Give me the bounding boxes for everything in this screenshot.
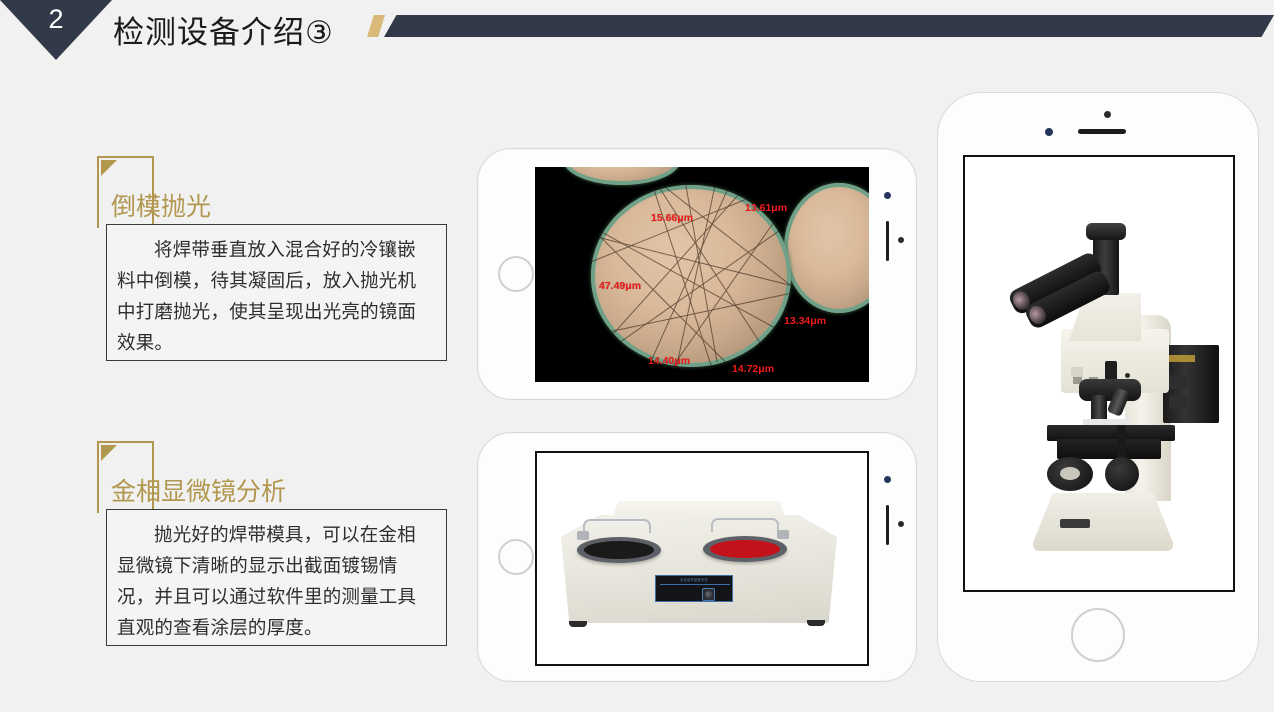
- polisher-tap-right: [777, 530, 789, 539]
- measure-label: 13.61μm: [745, 202, 787, 214]
- front-camera-icon: [884, 192, 891, 199]
- measure-label: 13.34μm: [784, 315, 826, 327]
- block-body-text: 将焊带垂直放入混合好的冷镶嵌料中倒模，待其凝固后，放入抛光机中打磨抛光，使其呈现…: [117, 235, 434, 359]
- block-text-box: 将焊带垂直放入混合好的冷镶嵌料中倒模，待其凝固后，放入抛光机中打磨抛光，使其呈现…: [106, 224, 447, 361]
- head-control-plate: [1071, 367, 1083, 377]
- microscope-illuminator: [1163, 345, 1219, 423]
- phone-mockup-microscope: [937, 92, 1259, 682]
- measure-label: 14.72μm: [732, 363, 774, 375]
- polisher-foot-right: [807, 620, 825, 626]
- measure-label: 14.40μm: [648, 355, 690, 367]
- stage-lower-block: [1057, 439, 1161, 459]
- polisher-foot-left: [569, 621, 587, 627]
- polisher-panel-text: 全自动环型抛光机: [656, 577, 732, 582]
- block-text-box: 抛光好的焊带模具，可以在金相显微镜下清晰的显示出截面镀锡情况，并且可以通过软件里…: [106, 509, 447, 646]
- proximity-sensor-icon: [898, 237, 904, 243]
- earpiece-speaker-icon: [886, 221, 889, 261]
- slide-header: 2 检测设备介绍③: [0, 0, 1274, 62]
- objective-turret: [1079, 379, 1141, 401]
- illuminator-knob-lower[interactable]: [1169, 395, 1187, 409]
- microscope-base-label: [1060, 519, 1090, 528]
- phone-screen-microscope: [963, 155, 1235, 592]
- section-number: 2: [48, 0, 63, 60]
- earpiece-speaker-icon: [1078, 129, 1126, 134]
- polishing-machine-image: 全自动环型抛光机: [555, 479, 845, 639]
- proximity-sensor-icon: [898, 521, 904, 527]
- microscope-image: [965, 157, 1235, 592]
- polisher-control-panel: 全自动环型抛光机: [655, 575, 733, 602]
- polishing-disc-black: [577, 537, 661, 563]
- page-title: 检测设备介绍③: [113, 7, 334, 52]
- phone-mockup-micrograph: 15.66μm 13.61μm 47.49μm 13.34μm 14.40μm …: [477, 148, 917, 400]
- header-bar-gold-tip: [367, 15, 385, 37]
- polishing-disc-red: [703, 536, 787, 562]
- block-heading: 金相显微镜分析: [111, 472, 286, 508]
- home-button-icon[interactable]: [1071, 608, 1125, 662]
- trinocular-cap: [1086, 223, 1126, 240]
- grain-partial-top: [563, 167, 681, 185]
- earpiece-speaker-icon: [886, 505, 889, 545]
- panel-divider: [660, 584, 730, 585]
- front-camera-icon: [1045, 128, 1053, 136]
- phone-mockup-polisher: 全自动环型抛光机: [477, 432, 917, 682]
- proximity-sensor-icon: [1104, 111, 1111, 118]
- front-camera-icon: [884, 476, 891, 483]
- home-button-icon[interactable]: [498, 256, 534, 292]
- phone-screen-polisher: 全自动环型抛光机: [535, 451, 869, 666]
- measure-label: 15.66μm: [651, 212, 693, 224]
- illuminator-knob-upper[interactable]: [1169, 375, 1187, 389]
- block-heading: 倒模抛光: [111, 187, 211, 223]
- coarse-focus-knob[interactable]: [1105, 457, 1139, 491]
- head-indicator-dot: [1125, 373, 1130, 378]
- header-accent-bar: [367, 15, 1274, 37]
- fine-focus-knob[interactable]: [1047, 457, 1093, 491]
- polisher-tap-left: [577, 531, 589, 540]
- micrograph-image: 15.66μm 13.61μm 47.49μm 13.34μm 14.40μm …: [535, 167, 869, 382]
- block-body-text: 抛光好的焊带模具，可以在金相显微镜下清晰的显示出截面镀锡情况，并且可以通过软件里…: [117, 520, 434, 644]
- polisher-handle-left: [583, 519, 651, 533]
- polisher-handle-right: [711, 518, 779, 532]
- eyepiece-lens-icon: [1026, 303, 1049, 327]
- microscope-base: [1033, 493, 1173, 551]
- home-button-icon[interactable]: [498, 539, 534, 575]
- grain-partial-right: [784, 183, 869, 313]
- illuminator-label-icon: [1169, 355, 1195, 362]
- header-bar-dark: [384, 15, 1274, 37]
- polisher-speed-knob[interactable]: [702, 588, 715, 601]
- section-number-badge: 2: [0, 0, 112, 60]
- slide-root: 2 检测设备介绍③ 倒模抛光 将焊带垂直放入混合好的冷镶嵌料中倒模，待其凝固后，…: [0, 0, 1274, 712]
- phone-screen-micrograph: 15.66μm 13.61μm 47.49μm 13.34μm 14.40μm …: [535, 167, 869, 382]
- measure-label: 47.49μm: [599, 280, 641, 292]
